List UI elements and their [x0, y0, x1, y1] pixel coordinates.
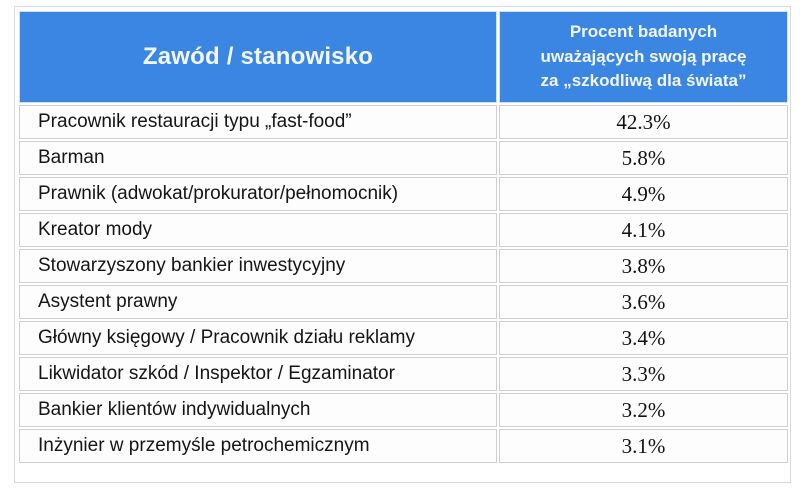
cell-percent: 3.2% — [499, 393, 788, 427]
table-row: Stowarzyszony bankier inwestycyjny3.8% — [19, 249, 788, 283]
cell-occupation: Stowarzyszony bankier inwestycyjny — [19, 249, 497, 283]
cell-percent: 4.9% — [499, 177, 788, 211]
table-row: Likwidator szkód / Inspektor / Egzaminat… — [19, 357, 788, 391]
table-header-row: Zawód / stanowisko Procent badanych uważ… — [19, 11, 788, 103]
cell-percent: 3.1% — [499, 429, 788, 463]
column-header-percent-line-2: uważających swoją pracę — [506, 45, 781, 70]
cell-percent: 3.3% — [499, 357, 788, 391]
table-row: Kreator mody4.1% — [19, 213, 788, 247]
cell-percent: 3.8% — [499, 249, 788, 283]
column-header-percent-line-1: Procent badanych — [506, 20, 781, 45]
cell-percent: 4.1% — [499, 213, 788, 247]
cell-occupation: Barman — [19, 141, 497, 175]
cell-percent: 3.4% — [499, 321, 788, 355]
results-table: Zawód / stanowisko Procent badanych uważ… — [17, 9, 790, 465]
cell-occupation: Likwidator szkód / Inspektor / Egzaminat… — [19, 357, 497, 391]
table-row: Główny księgowy / Pracownik działu rekla… — [19, 321, 788, 355]
results-table-container: Zawód / stanowisko Procent badanych uważ… — [14, 6, 791, 483]
table-row: Bankier klientów indywidualnych3.2% — [19, 393, 788, 427]
column-header-percent: Procent badanych uważających swoją pracę… — [499, 11, 788, 103]
table-header: Zawód / stanowisko Procent badanych uważ… — [19, 11, 788, 103]
table-body: Pracownik restauracji typu „fast-food”42… — [19, 105, 788, 463]
cell-percent: 42.3% — [499, 105, 788, 139]
cell-percent: 3.6% — [499, 285, 788, 319]
cell-occupation: Inżynier w przemyśle petrochemicznym — [19, 429, 497, 463]
cell-occupation: Asystent prawny — [19, 285, 497, 319]
table-row: Asystent prawny3.6% — [19, 285, 788, 319]
cell-occupation: Pracownik restauracji typu „fast-food” — [19, 105, 497, 139]
column-header-occupation: Zawód / stanowisko — [19, 11, 497, 103]
column-header-percent-line-3: za „szkodliwą dla świata” — [506, 69, 781, 94]
table-row: Prawnik (adwokat/prokurator/pełnomocnik)… — [19, 177, 788, 211]
cell-occupation: Prawnik (adwokat/prokurator/pełnomocnik) — [19, 177, 497, 211]
table-row: Barman5.8% — [19, 141, 788, 175]
cell-occupation: Główny księgowy / Pracownik działu rekla… — [19, 321, 497, 355]
cell-occupation: Bankier klientów indywidualnych — [19, 393, 497, 427]
table-row: Pracownik restauracji typu „fast-food”42… — [19, 105, 788, 139]
cell-percent: 5.8% — [499, 141, 788, 175]
table-row: Inżynier w przemyśle petrochemicznym3.1% — [19, 429, 788, 463]
cell-occupation: Kreator mody — [19, 213, 497, 247]
